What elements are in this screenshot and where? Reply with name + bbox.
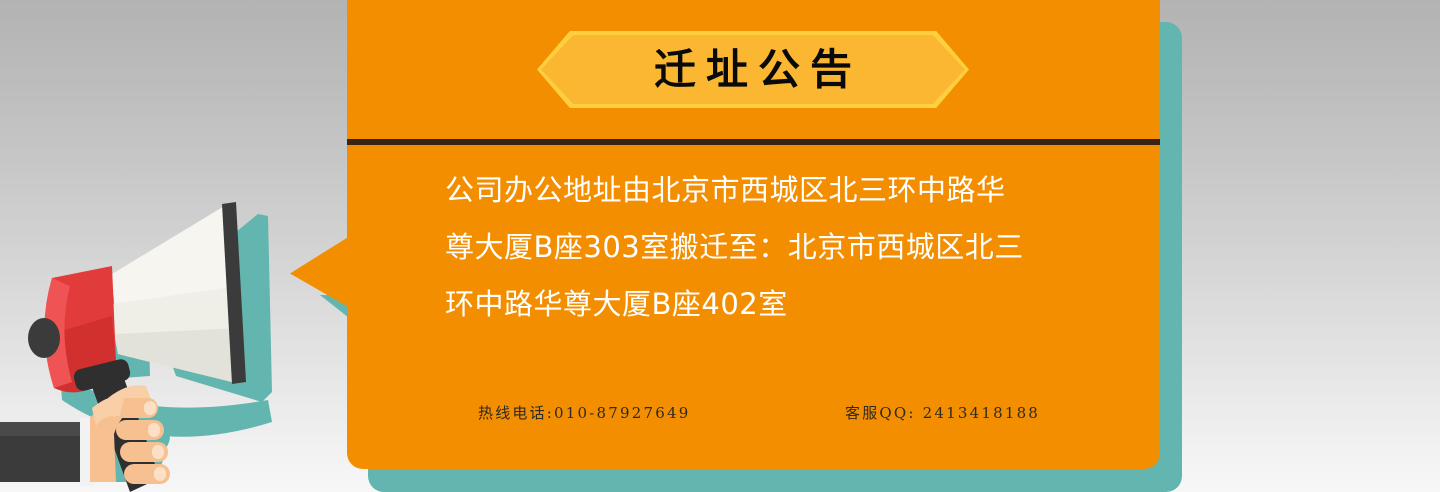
megaphone-rear-nub	[28, 318, 60, 358]
hotline-text: 热线电话:010-87927649	[478, 402, 691, 423]
page-title: 迁址公告	[537, 31, 969, 108]
contact-footer: 热线电话:010-87927649 客服QQ: 2413418188	[347, 402, 1160, 426]
qq-text: 客服QQ: 2413418188	[845, 402, 1040, 423]
megaphone-horn	[112, 205, 240, 382]
body-line: 公司办公地址由北京市西城区北三环中路华	[445, 162, 1093, 219]
body-line: 环中路华尊大厦B座402室	[445, 276, 1093, 333]
announcement-card: 迁址公告 公司办公地址由北京市西城区北三环中路华 尊大厦B座303室搬迁至：北京…	[347, 0, 1160, 469]
announcement-body: 公司办公地址由北京市西城区北三环中路华 尊大厦B座303室搬迁至：北京市西城区北…	[445, 162, 1093, 333]
title-ribbon: 迁址公告	[537, 31, 969, 108]
announcement-banner: 迁址公告 公司办公地址由北京市西城区北三环中路华 尊大厦B座303室搬迁至：北京…	[0, 0, 1440, 492]
sleeve	[0, 418, 94, 486]
megaphone-illustration	[0, 186, 350, 492]
body-line: 尊大厦B座303室搬迁至：北京市西城区北三	[445, 219, 1093, 276]
divider	[347, 139, 1160, 145]
